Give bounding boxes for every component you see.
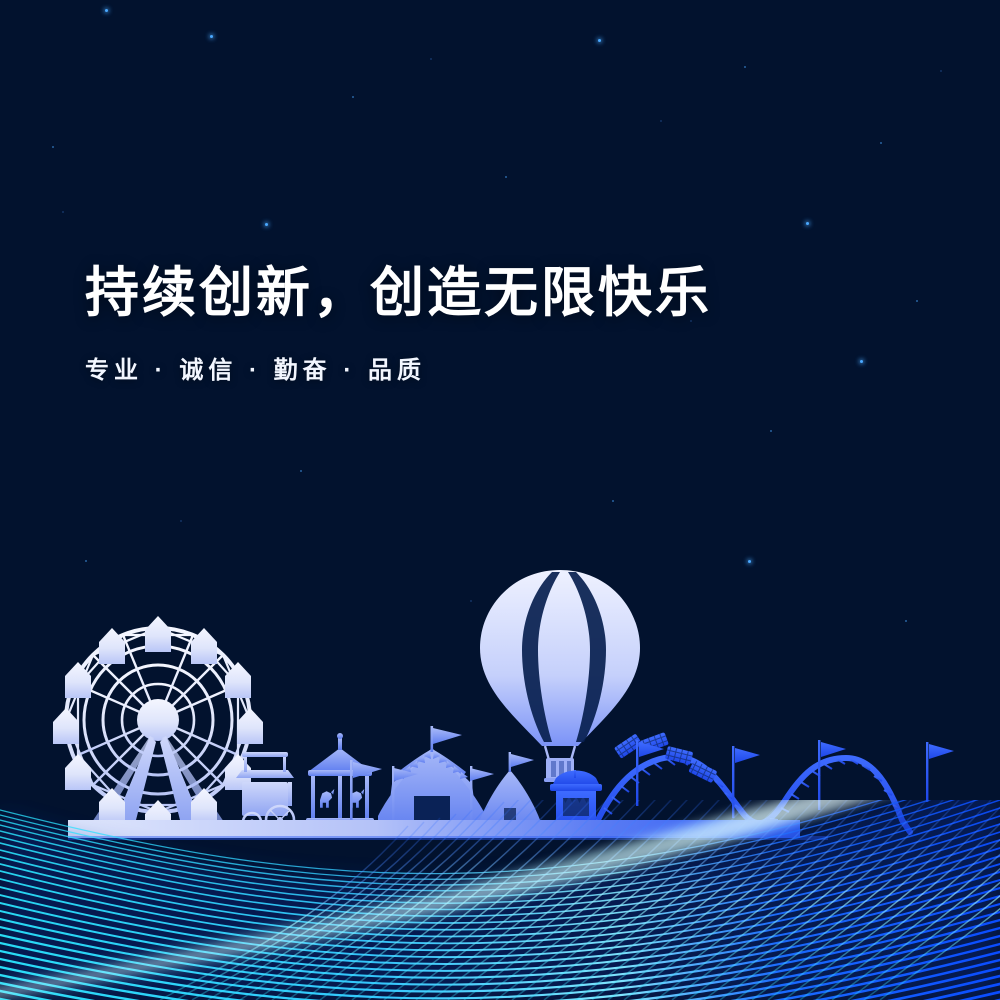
star — [880, 142, 882, 144]
star — [660, 120, 662, 122]
star — [505, 176, 507, 178]
star — [210, 35, 213, 38]
page-subtitle: 专业 · 诚信 · 勤奋 · 品质 — [85, 350, 712, 385]
star — [300, 470, 302, 472]
star — [940, 70, 942, 72]
star — [744, 66, 746, 68]
star — [265, 223, 268, 226]
star — [806, 222, 809, 225]
wave-mesh-decoration — [0, 800, 1000, 1000]
ferris-wheel — [66, 628, 250, 822]
star — [352, 96, 354, 98]
star — [62, 211, 64, 213]
star — [52, 146, 54, 148]
star — [612, 500, 614, 502]
star — [860, 360, 863, 363]
star — [770, 430, 772, 432]
star — [105, 9, 108, 12]
hero-text: 持续创新，创造无限快乐 专业 · 诚信 · 勤奋 · 品质 — [85, 262, 712, 385]
star — [916, 300, 918, 302]
page-title: 持续创新，创造无限快乐 — [85, 262, 712, 324]
star — [430, 58, 432, 60]
star — [598, 39, 601, 42]
banner-canvas: 持续创新，创造无限快乐 专业 · 诚信 · 勤奋 · 品质 — [0, 0, 1000, 1000]
